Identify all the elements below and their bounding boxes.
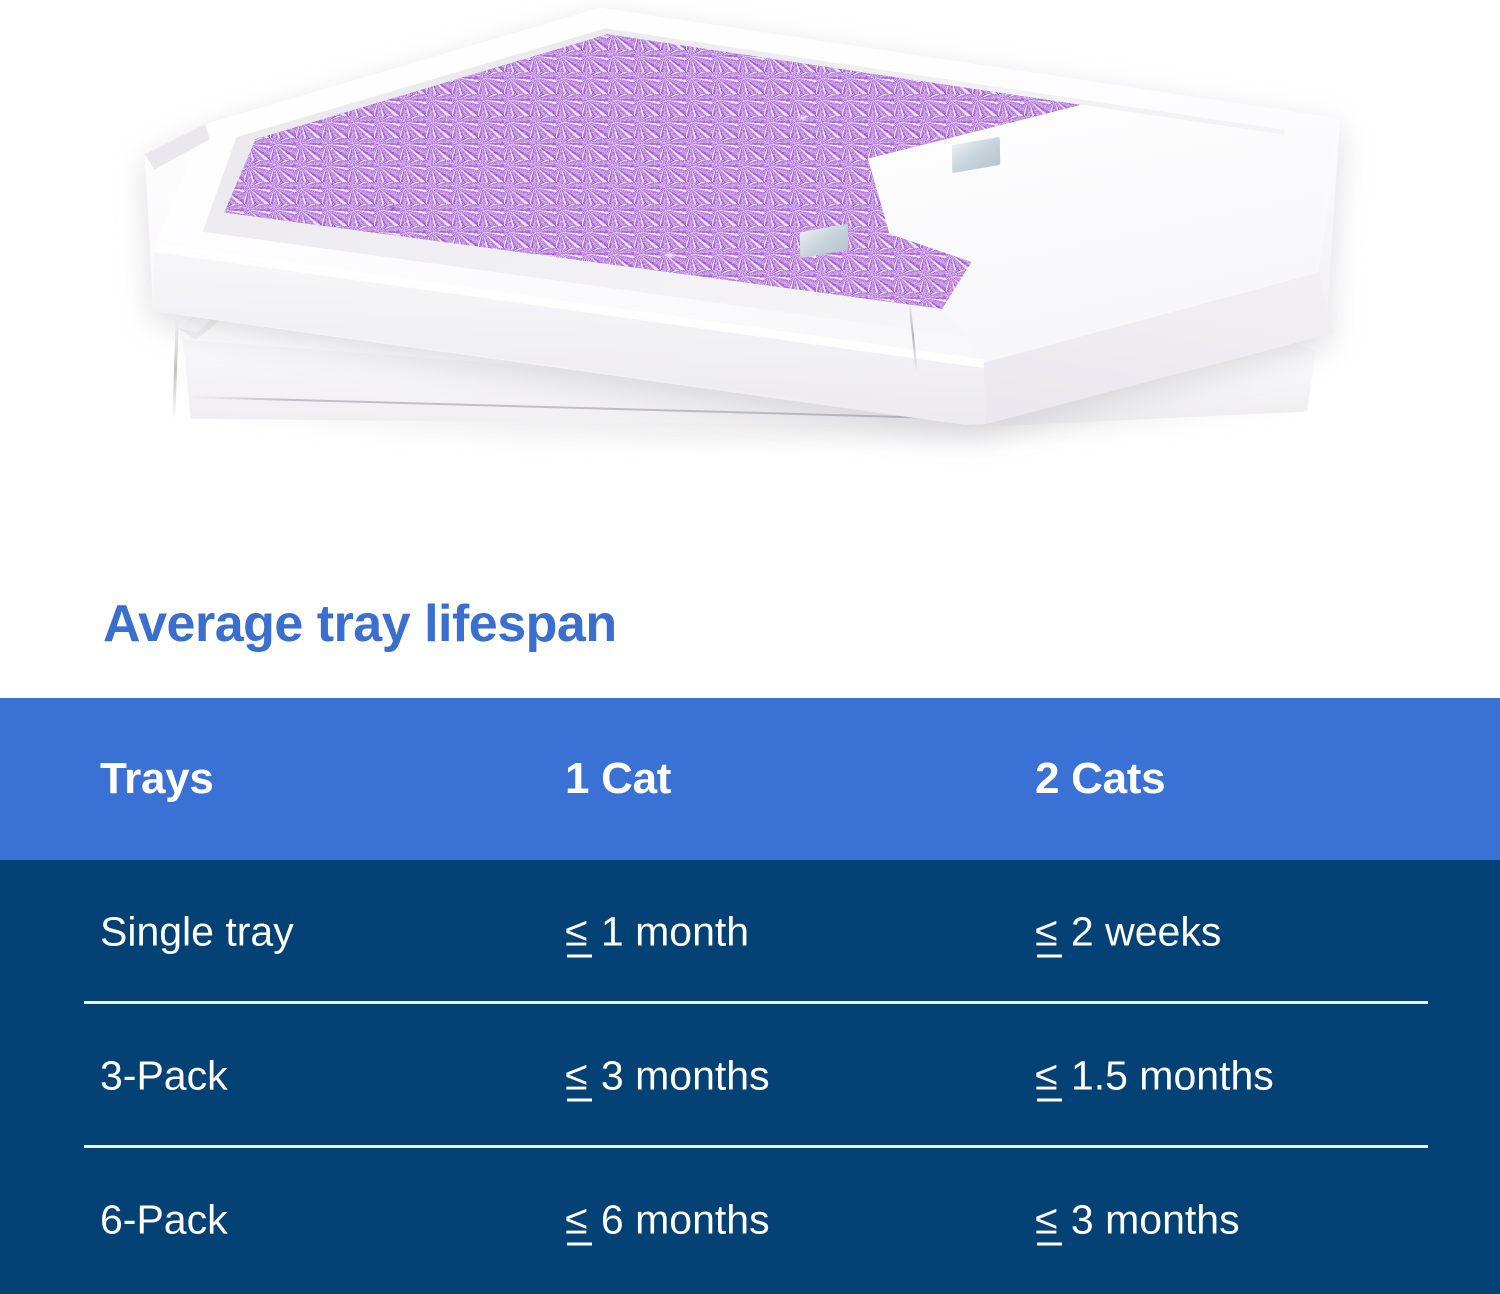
cell-trays: 3-Pack xyxy=(100,1053,228,1100)
cell-two-cats: ≤ 3 months xyxy=(1035,1197,1240,1244)
column-header-two-cats: 2 Cats xyxy=(1035,754,1165,804)
cell-one-cat-value: 1 month xyxy=(601,909,749,955)
product-infographic: Average tray lifespan Trays 1 Cat 2 Cats… xyxy=(0,0,1500,1294)
cell-trays: Single tray xyxy=(100,909,294,956)
table-header-row: Trays 1 Cat 2 Cats xyxy=(0,698,1500,860)
less-or-equal-icon: ≤ xyxy=(1035,1053,1060,1100)
column-header-one-cat: 1 Cat xyxy=(565,754,671,804)
column-header-trays: Trays xyxy=(100,754,214,804)
less-or-equal-icon: ≤ xyxy=(565,909,590,956)
cell-two-cats: ≤ 2 weeks xyxy=(1035,909,1221,956)
page-title: Average tray lifespan xyxy=(103,596,617,653)
table-row: 6-Pack ≤ 6 months ≤ 3 months xyxy=(0,1148,1500,1292)
less-or-equal-icon: ≤ xyxy=(1035,909,1060,956)
cell-one-cat-value: 6 months xyxy=(601,1197,770,1243)
cell-two-cats: ≤ 1.5 months xyxy=(1035,1053,1274,1100)
less-or-equal-icon: ≤ xyxy=(565,1053,590,1100)
cell-one-cat: ≤ 6 months xyxy=(565,1197,770,1244)
lifespan-table: Trays 1 Cat 2 Cats Single tray ≤ 1 month… xyxy=(0,698,1500,1294)
less-or-equal-icon: ≤ xyxy=(565,1197,590,1244)
product-photo xyxy=(0,0,1500,580)
table-row: 3-Pack ≤ 3 months ≤ 1.5 months xyxy=(0,1004,1500,1148)
cell-trays: 6-Pack xyxy=(100,1197,228,1244)
cell-two-cats-value: 1.5 months xyxy=(1071,1053,1274,1099)
cell-one-cat: ≤ 3 months xyxy=(565,1053,770,1100)
less-or-equal-icon: ≤ xyxy=(1035,1197,1060,1244)
cell-two-cats-value: 2 weeks xyxy=(1071,909,1221,955)
cell-one-cat-value: 3 months xyxy=(601,1053,770,1099)
table-body: Single tray ≤ 1 month ≤ 2 weeks 3-Pack ≤… xyxy=(0,860,1500,1294)
cell-one-cat: ≤ 1 month xyxy=(565,909,749,956)
table-row: Single tray ≤ 1 month ≤ 2 weeks xyxy=(0,860,1500,1004)
cell-two-cats-value: 3 months xyxy=(1071,1197,1240,1243)
upper-tray-filled xyxy=(140,6,1345,436)
